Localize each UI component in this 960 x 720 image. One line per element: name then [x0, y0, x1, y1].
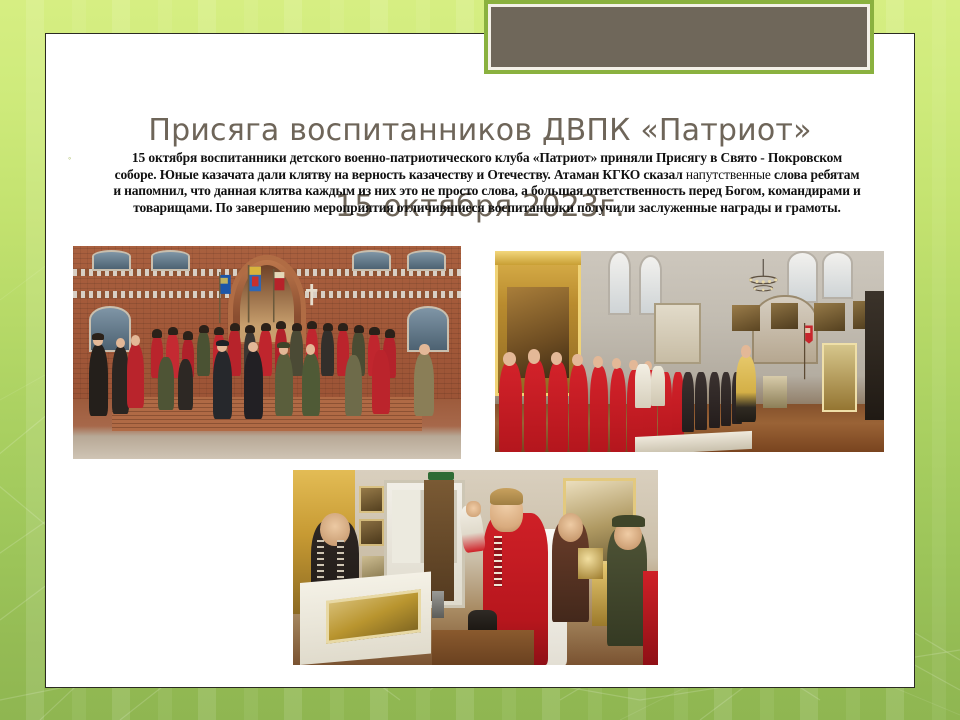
accent-block-mat [488, 4, 870, 70]
crowd-figure [321, 329, 333, 376]
crowd-hat [276, 321, 286, 330]
front-figure-camo-3 [414, 353, 433, 417]
church-pillar [865, 291, 884, 420]
front-figure [112, 346, 129, 414]
photo-church-interior-scene [495, 251, 884, 452]
front-figure-camo-2 [345, 355, 363, 417]
slide-body-text: 15 октября воспитанники детского военно-… [82, 150, 868, 216]
accent-block-fill [491, 7, 867, 67]
cadet-head [528, 349, 540, 363]
photo-group-outside[interactable] [73, 246, 461, 459]
crowd-hat [385, 329, 395, 338]
presentation-slide: Присяга воспитанников ДВПК «Патриот» 15 … [0, 0, 960, 720]
crowd-hat [338, 323, 348, 332]
bullet-marker: ◦ [68, 150, 82, 163]
crowd-figure [197, 331, 209, 376]
cadet-dark [709, 372, 720, 428]
photo-oath-boy-scene [293, 470, 658, 665]
front-figure-head [419, 344, 429, 355]
man-in-black-coat-head [320, 513, 349, 546]
red-sleeve-edge [643, 571, 658, 665]
photo-group-outside-scene [73, 246, 461, 459]
cadet-red [590, 366, 608, 452]
cadet-head [572, 354, 583, 367]
cadet-red [499, 362, 522, 452]
crowd-hat [199, 325, 209, 334]
cadet-dark [695, 372, 707, 430]
church-window-1 [608, 251, 631, 315]
front-figure-hat [92, 333, 104, 339]
chandelier-icon [736, 259, 790, 311]
iconostasis-canopy [495, 251, 581, 265]
boy-gazyr-cartridges [494, 536, 502, 587]
crowd-hat [323, 323, 333, 332]
cadet-head [551, 352, 563, 365]
cadet-head [503, 352, 516, 366]
analoy-lectern [822, 343, 857, 411]
front-figure-red-2 [372, 350, 390, 414]
crowd-hat [261, 323, 271, 332]
boy-hand [466, 501, 481, 517]
cadet-head [593, 356, 603, 368]
window-upper-left-2 [151, 250, 190, 271]
crowd-hat [230, 323, 240, 332]
cadet-dark [682, 372, 694, 432]
brass-vessel [578, 548, 604, 579]
front-figure-cap [216, 340, 229, 346]
front-figure-camo [158, 357, 174, 410]
gazyr-cartridges-left [317, 540, 324, 583]
front-figure-head [306, 344, 316, 355]
cadet-red [524, 360, 546, 452]
front-figure [178, 359, 194, 410]
small-table [763, 376, 786, 408]
front-figure-cap [277, 342, 289, 348]
boy-hair [490, 488, 523, 506]
window-upper-left [92, 250, 131, 271]
window-upper-right-1 [352, 250, 391, 271]
metal-vessel [432, 591, 445, 618]
crowd-hat [168, 327, 178, 336]
exit-sign [428, 472, 454, 480]
front-figure-officer-2 [244, 350, 263, 418]
figure-white-vestment [635, 364, 651, 408]
framed-icon-1 [359, 486, 385, 513]
flag-red [259, 269, 290, 322]
crowd-hat [245, 325, 255, 334]
crowd-hat [214, 327, 224, 336]
church-banner [791, 323, 818, 379]
cadet-red [610, 368, 626, 452]
crowd-hat [354, 325, 364, 334]
front-figure-red [127, 344, 144, 408]
front-figure-green-2 [302, 353, 320, 417]
wall-icon-3 [814, 303, 845, 331]
church-window-4 [822, 251, 853, 299]
photo-church-interior[interactable] [495, 251, 884, 452]
window-upper-right-2 [407, 250, 446, 271]
priest-head [741, 345, 751, 357]
crowd-hat [307, 321, 317, 330]
cadet-red [569, 364, 588, 452]
slide-body-block: ◦ 15 октября воспитанники детского военн… [68, 150, 868, 216]
body-text-emphasis: напутственные [686, 167, 771, 182]
photo-oath-boy[interactable] [293, 470, 658, 665]
slide-title-line-1: Присяга воспитанников ДВПК «Патриот» [60, 112, 900, 150]
front-figure-left [89, 344, 108, 416]
crowd-hat [152, 329, 162, 338]
crowd-hat [369, 327, 379, 336]
man-behind-right-head [558, 513, 584, 542]
figure-white-vestment [651, 366, 665, 406]
church-altar-shrine [654, 303, 701, 363]
decorative-accent-block [484, 0, 874, 74]
crowd-hat [183, 331, 193, 340]
cadet-red [548, 362, 568, 452]
front-figure-officer [213, 350, 232, 418]
wooden-floor [432, 630, 534, 665]
gazyr-cartridges-right [337, 540, 344, 583]
wall-cross-icon [302, 284, 321, 305]
crowd-hat [292, 323, 302, 332]
front-figure-green [275, 353, 293, 417]
soldier-cap [612, 515, 645, 527]
front-figure-head [116, 338, 125, 349]
cadet-dark [721, 372, 731, 426]
framed-icon-2 [359, 519, 385, 546]
priest-in-gold-vestment [736, 356, 755, 422]
